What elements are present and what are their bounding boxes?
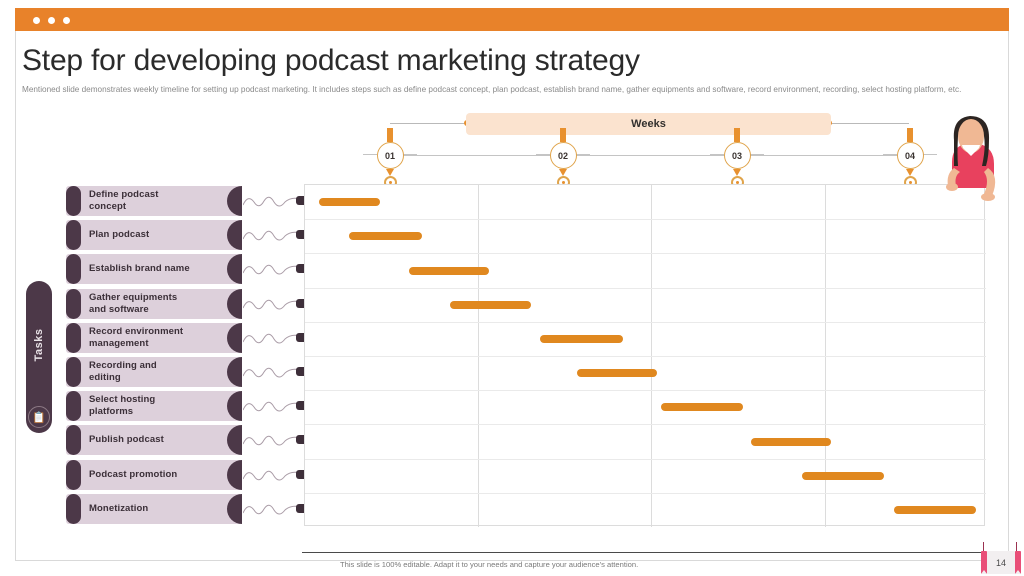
- task-label: Plan podcast: [89, 229, 229, 241]
- task-band[interactable]: Record environmentmanagement: [66, 323, 242, 353]
- task-label: Gather equipmentsand software: [89, 292, 229, 316]
- clipboard-icon: 📋: [28, 406, 50, 428]
- task-label: Record environmentmanagement: [89, 326, 229, 350]
- week-tick: [536, 154, 550, 155]
- task-label: Define podcastconcept: [89, 189, 229, 213]
- task-cap-left: [66, 357, 81, 387]
- task-cap-left: [66, 220, 81, 250]
- gantt-row-line: [305, 322, 986, 323]
- gantt-row-line: [305, 424, 986, 425]
- gantt-bar[interactable]: [802, 472, 884, 480]
- task-band[interactable]: Podcast promotion: [66, 460, 242, 490]
- banner-leader-left: [390, 123, 468, 124]
- slide-canvas: Step for developing podcast marketing st…: [0, 0, 1024, 576]
- task-band[interactable]: Publish podcast: [66, 425, 242, 455]
- task-cap-right: [227, 254, 242, 284]
- task-label: Publish podcast: [89, 434, 229, 446]
- gantt-row-line: [305, 219, 986, 220]
- week-arrow-04: [906, 169, 914, 176]
- week-stem-02: [560, 128, 566, 142]
- page-number: 14: [996, 558, 1006, 568]
- gantt-bar[interactable]: [751, 438, 831, 446]
- week-marker-02[interactable]: 02: [550, 142, 577, 169]
- task-cap-left: [66, 186, 81, 216]
- week-arrow-01: [386, 169, 394, 176]
- gantt-bar[interactable]: [349, 232, 422, 240]
- gantt-row-line: [305, 459, 986, 460]
- task-label: Select hostingplatforms: [89, 394, 229, 418]
- tasks-rail-label: Tasks: [33, 295, 45, 395]
- weeks-banner-label: Weeks: [466, 113, 831, 135]
- week-tick: [710, 154, 724, 155]
- task-label: Podcast promotion: [89, 469, 229, 481]
- task-cap-left: [66, 323, 81, 353]
- page-subtitle: Mentioned slide demonstrates weekly time…: [22, 84, 962, 95]
- task-cap-right: [227, 391, 242, 421]
- task-band[interactable]: Recording andediting: [66, 357, 242, 387]
- week-stem-03: [734, 128, 740, 142]
- week-tick: [403, 154, 417, 155]
- task-band[interactable]: Monetization: [66, 494, 242, 524]
- gantt-row-line: [305, 356, 986, 357]
- week-tick: [576, 154, 590, 155]
- page-title: Step for developing podcast marketing st…: [22, 43, 802, 79]
- gantt-bar[interactable]: [540, 335, 623, 343]
- page-number-badge: 14: [981, 551, 1021, 574]
- task-band[interactable]: Gather equipmentsand software: [66, 289, 242, 319]
- week-marker-03[interactable]: 03: [724, 142, 751, 169]
- task-cap-right: [227, 357, 242, 387]
- gantt-row-line: [305, 253, 986, 254]
- bookmark-right-icon: [1015, 551, 1021, 574]
- gantt-bar[interactable]: [894, 506, 976, 514]
- task-cap-right: [227, 186, 242, 216]
- footer-note: This slide is 100% editable. Adapt it to…: [340, 560, 638, 569]
- task-label: Recording andediting: [89, 360, 229, 384]
- task-band[interactable]: Plan podcast: [66, 220, 242, 250]
- week-arrow-02: [559, 169, 567, 176]
- task-cap-left: [66, 460, 81, 490]
- task-cap-right: [227, 220, 242, 250]
- gantt-bar[interactable]: [409, 267, 489, 275]
- task-label: Monetization: [89, 503, 229, 515]
- week-tick: [883, 154, 897, 155]
- weeks-axis-line: [390, 155, 909, 156]
- window-dot-minimize-icon[interactable]: [48, 17, 55, 24]
- gantt-bar[interactable]: [577, 369, 657, 377]
- gantt-row-line: [305, 493, 986, 494]
- gantt-grid: [304, 184, 985, 526]
- week-arrow-03: [733, 169, 741, 176]
- gantt-row-line: [305, 288, 986, 289]
- task-label: Establish brand name: [89, 263, 229, 275]
- banner-leader-right: [829, 123, 909, 124]
- task-cap-right: [227, 460, 242, 490]
- week-tick: [363, 154, 377, 155]
- task-cap-right: [227, 323, 242, 353]
- window-dot-close-icon[interactable]: [33, 17, 40, 24]
- bookmark-left-icon: [981, 551, 987, 574]
- task-cap-left: [66, 391, 81, 421]
- week-stem-04: [907, 128, 913, 142]
- task-cap-left: [66, 494, 81, 524]
- tasks-rail: Tasks 📋: [26, 281, 52, 433]
- task-cap-right: [227, 425, 242, 455]
- gantt-bar[interactable]: [319, 198, 380, 206]
- window-dot-maximize-icon[interactable]: [63, 17, 70, 24]
- task-cap-right: [227, 289, 242, 319]
- task-cap-left: [66, 425, 81, 455]
- gantt-bar[interactable]: [450, 301, 532, 309]
- task-band[interactable]: Define podcastconcept: [66, 186, 242, 216]
- task-cap-left: [66, 289, 81, 319]
- week-stem-01: [387, 128, 393, 142]
- gantt-row-line: [305, 390, 986, 391]
- task-cap-right: [227, 494, 242, 524]
- week-marker-04[interactable]: 04: [897, 142, 924, 169]
- week-tick: [750, 154, 764, 155]
- footer-divider: [302, 552, 1009, 553]
- task-band[interactable]: Establish brand name: [66, 254, 242, 284]
- woman-presenter-illustration: [930, 110, 1010, 202]
- task-cap-left: [66, 254, 81, 284]
- task-band[interactable]: Select hostingplatforms: [66, 391, 242, 421]
- gantt-bar[interactable]: [661, 403, 743, 411]
- week-marker-01[interactable]: 01: [377, 142, 404, 169]
- window-titlebar: [15, 8, 1009, 31]
